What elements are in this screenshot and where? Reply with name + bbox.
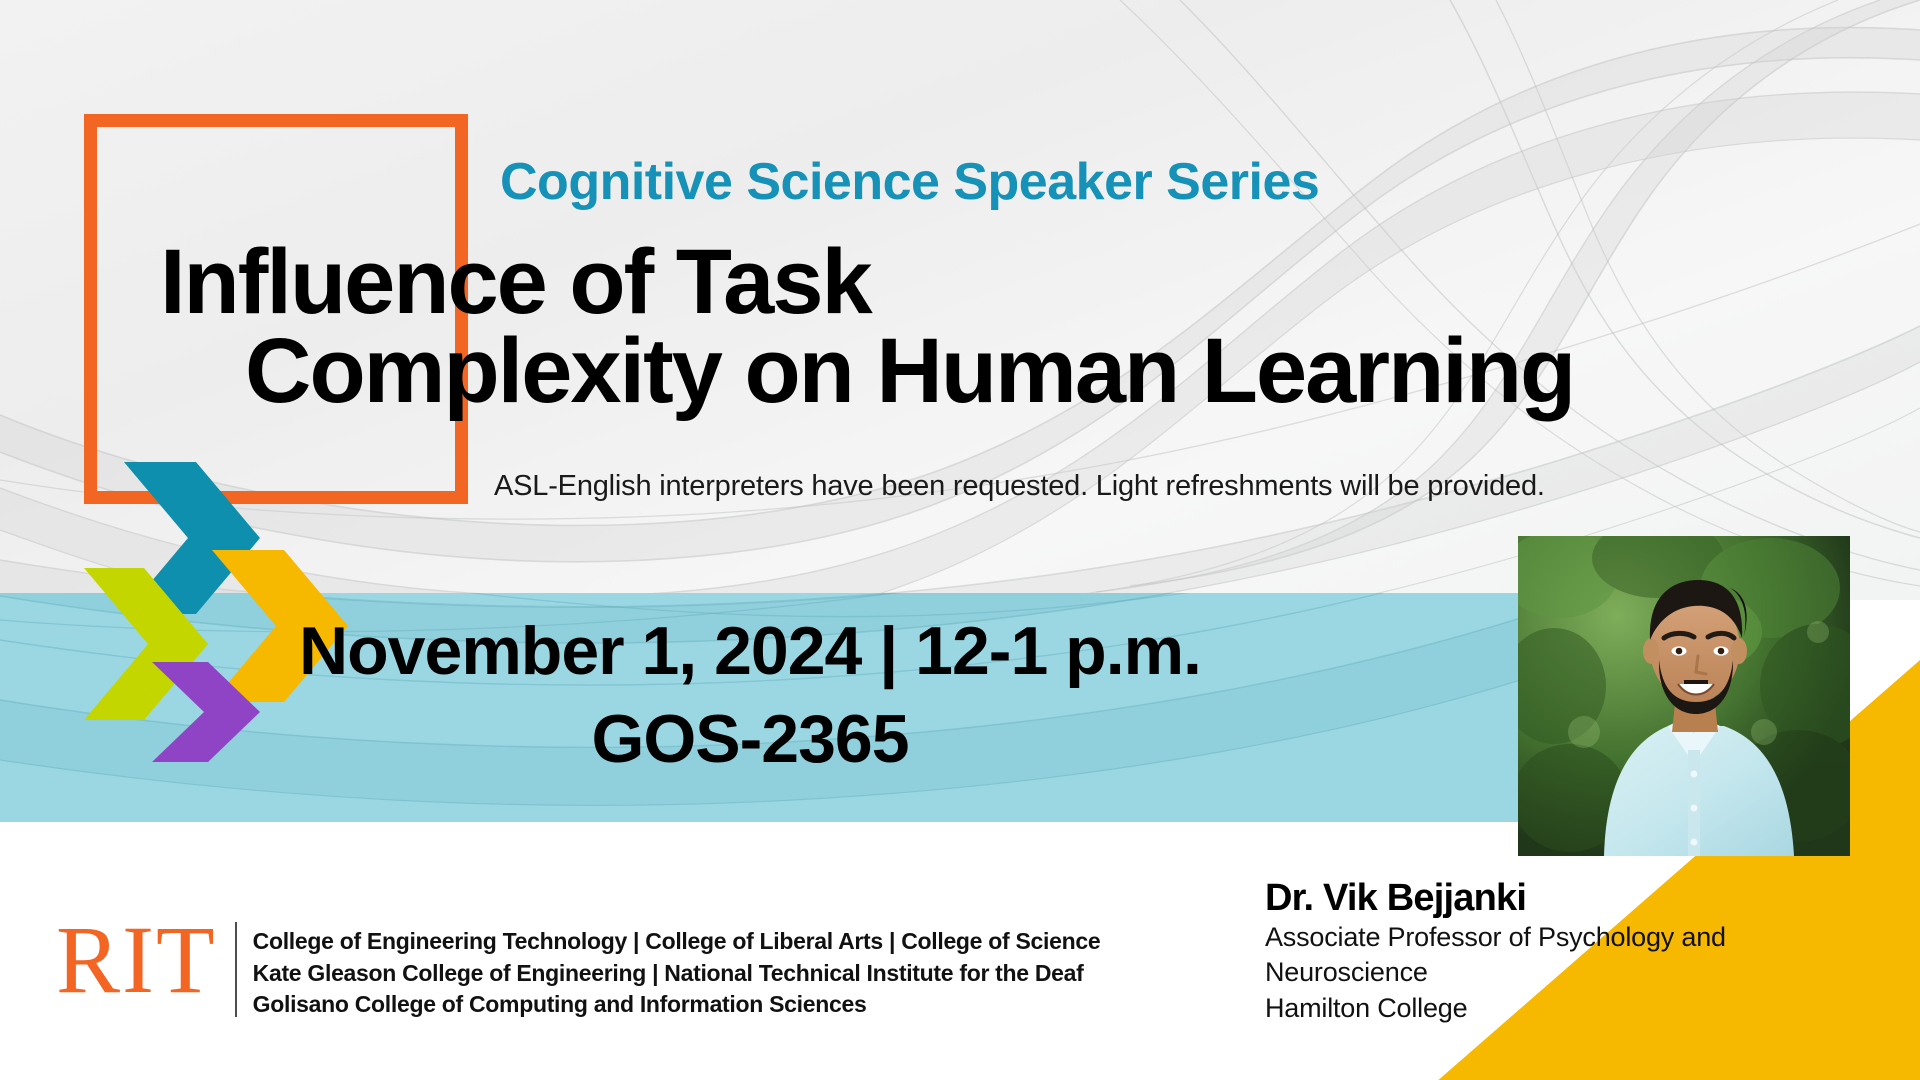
- college-line-2: Kate Gleason College of Engineering | Na…: [253, 958, 1101, 990]
- headline-line-1: Influence of Task: [150, 238, 1810, 327]
- college-line-1: College of Engineering Technology | Coll…: [253, 926, 1101, 958]
- accessibility-note: ASL-English interpreters have been reque…: [494, 470, 1545, 503]
- event-location: GOS-2365: [0, 700, 1500, 778]
- speaker-info: Dr. Vik Bejjanki Associate Professor of …: [1265, 878, 1885, 1027]
- speaker-title: Associate Professor of Psychology and Ne…: [1265, 920, 1885, 991]
- headline-line-2: Complexity on Human Learning: [150, 327, 1810, 416]
- event-datetime: November 1, 2024 | 12-1 p.m.: [0, 612, 1500, 690]
- portrait-image: [1518, 536, 1850, 856]
- speaker-portrait: [1518, 536, 1850, 856]
- rit-wordmark: RIT: [56, 918, 235, 1002]
- college-line-3: Golisano College of Computing and Inform…: [253, 989, 1101, 1021]
- college-list: College of Engineering Technology | Coll…: [253, 918, 1101, 1021]
- logo-divider: [235, 922, 237, 1017]
- speaker-organization: Hamilton College: [1265, 991, 1885, 1027]
- rit-logo-lockup: RIT College of Engineering Technology | …: [56, 918, 1100, 1021]
- speaker-name: Dr. Vik Bejjanki: [1265, 878, 1885, 920]
- page-title: Influence of Task Complexity on Human Le…: [150, 238, 1810, 416]
- event-poster: Cognitive Science Speaker Series Influen…: [0, 0, 1920, 1080]
- series-label: Cognitive Science Speaker Series: [500, 152, 1319, 212]
